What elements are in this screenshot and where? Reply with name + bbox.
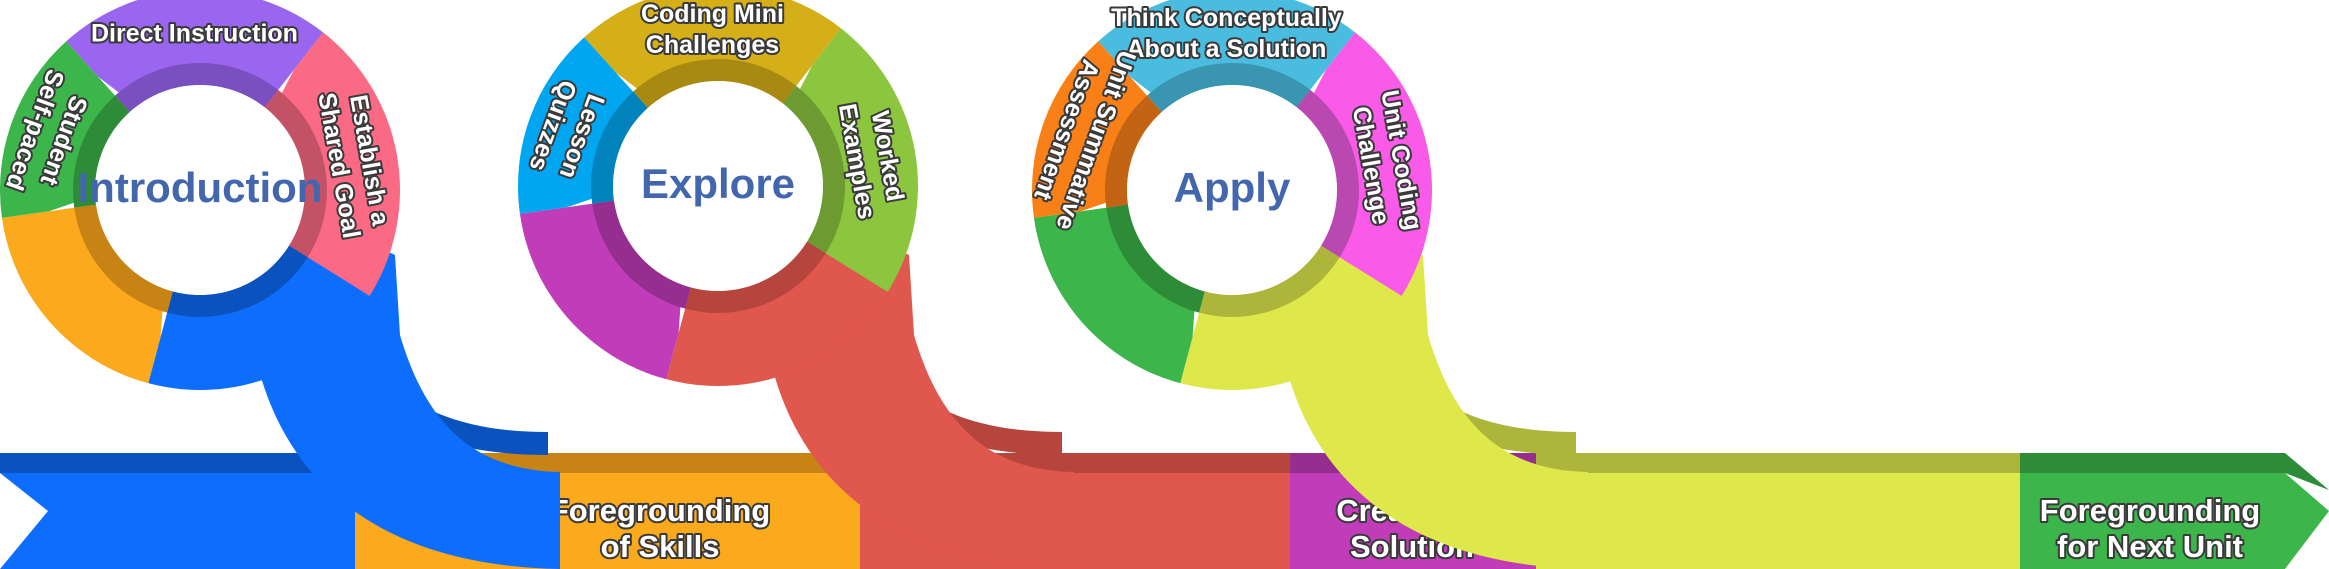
ring-title-explore: Explore	[641, 160, 795, 207]
diagram-canvas: Foregrounding of Skills Creating a Solut…	[0, 0, 2329, 569]
center-titles: Introduction Explore Apply	[0, 0, 2329, 569]
ring-title-introduction: Introduction	[78, 164, 323, 211]
ring-title-apply: Apply	[1174, 164, 1291, 211]
